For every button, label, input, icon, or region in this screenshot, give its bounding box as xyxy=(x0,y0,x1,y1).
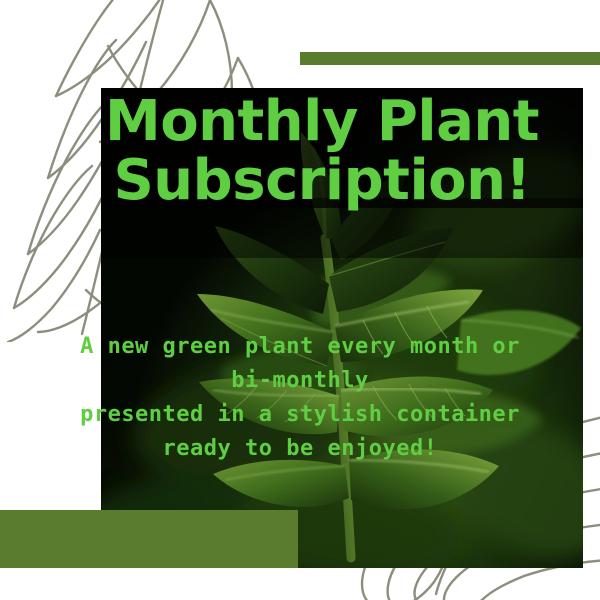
poster-canvas: Monthly Plant Subscription! A new green … xyxy=(0,0,600,600)
accent-bar-bottom xyxy=(0,510,298,568)
headline-line-1: Monthly Plant xyxy=(44,95,600,150)
body-copy: A new green plant every month or bi-mont… xyxy=(0,330,600,466)
headline-line-2: Subscription! xyxy=(44,154,600,209)
body-copy-line-2: bi-monthly xyxy=(6,364,594,398)
accent-bar-top xyxy=(300,52,600,65)
page-title: Monthly Plant Subscription! xyxy=(0,95,600,209)
body-copy-line-4: ready to be enjoyed! xyxy=(6,432,594,466)
body-copy-line-3: presented in a stylish container xyxy=(6,398,594,432)
body-copy-line-1: A new green plant every month or xyxy=(6,330,594,364)
